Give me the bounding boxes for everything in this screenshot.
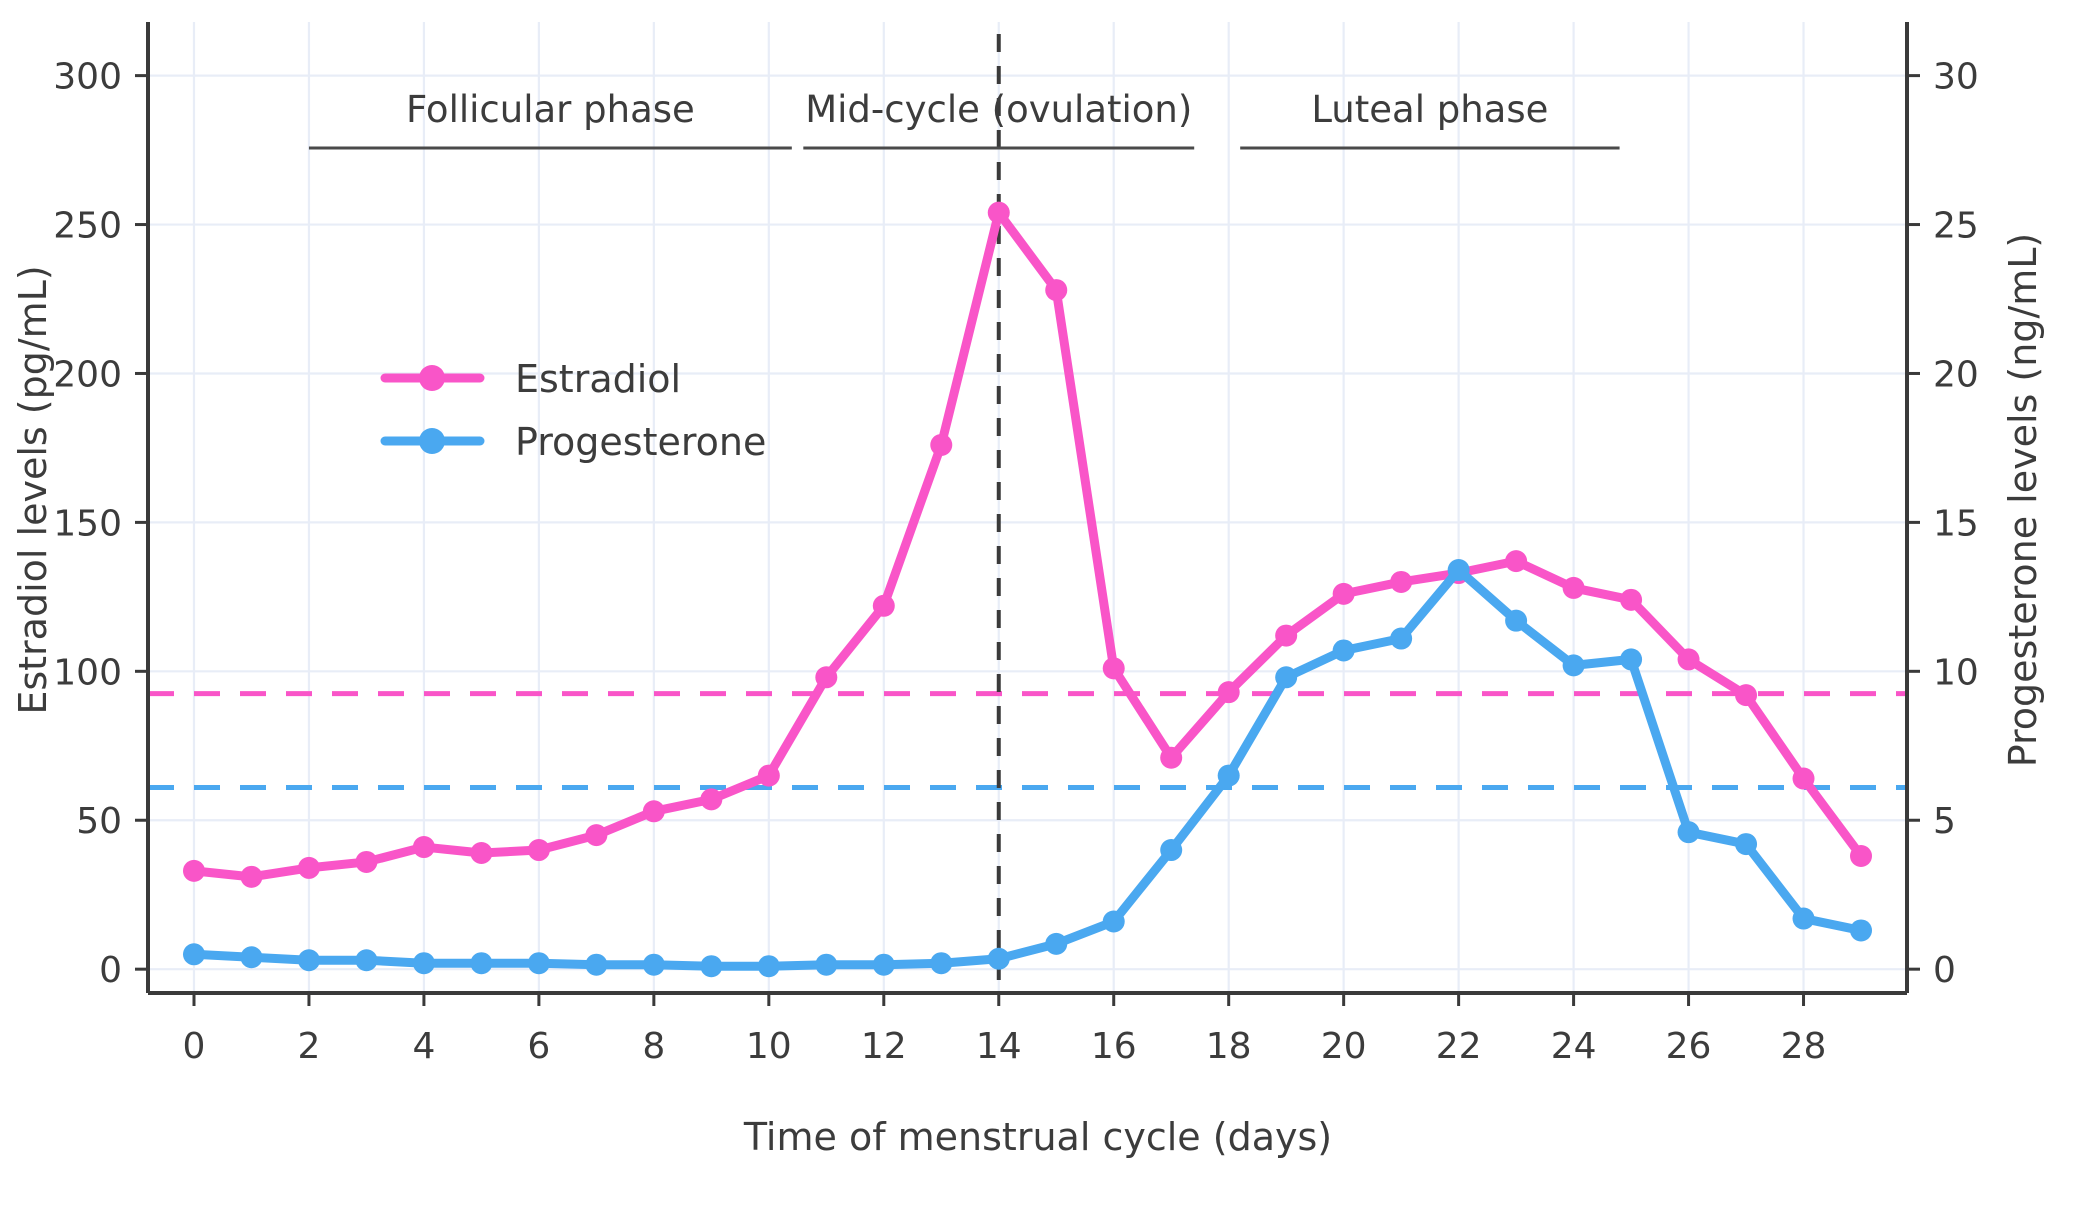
data-point-estradiol xyxy=(1793,768,1815,790)
x-tick-label: 18 xyxy=(1206,1026,1252,1067)
data-point-estradiol xyxy=(930,434,952,456)
data-point-estradiol xyxy=(643,800,665,822)
data-point-progesterone xyxy=(873,954,895,976)
y-left-tick-label: 150 xyxy=(53,503,122,544)
data-point-progesterone xyxy=(1333,639,1355,661)
data-point-estradiol xyxy=(1678,648,1700,670)
data-point-estradiol xyxy=(1103,657,1125,679)
data-point-estradiol xyxy=(758,765,780,787)
chart-figure: Follicular phaseMid-cycle (ovulation)Lut… xyxy=(0,0,2077,1208)
data-point-progesterone xyxy=(183,943,205,965)
x-axis-ticks: 0246810121416182022242628 xyxy=(183,993,1827,1067)
data-point-progesterone xyxy=(1103,911,1125,933)
data-point-estradiol xyxy=(470,842,492,864)
data-point-progesterone xyxy=(643,954,665,976)
y-axis-left-label: Estradiol levels (pg/mL) xyxy=(11,265,55,714)
y-left-tick-label: 0 xyxy=(99,950,122,991)
data-point-progesterone xyxy=(1850,919,1872,941)
x-tick-label: 20 xyxy=(1321,1026,1367,1067)
x-tick-label: 24 xyxy=(1551,1026,1597,1067)
data-point-progesterone xyxy=(413,952,435,974)
y-axis-right-ticks: 051015202530 xyxy=(1907,57,1979,992)
legend-swatch-marker xyxy=(419,365,445,391)
x-tick-label: 16 xyxy=(1091,1026,1137,1067)
data-point-estradiol xyxy=(1275,625,1297,647)
y-gridlines xyxy=(148,76,1907,970)
data-point-estradiol xyxy=(183,860,205,882)
x-axis-label: Time of menstrual cycle (days) xyxy=(743,1115,1332,1159)
data-point-progesterone xyxy=(815,954,837,976)
y-right-tick-label: 15 xyxy=(1933,503,1979,544)
data-point-estradiol xyxy=(1045,279,1067,301)
phase-annotations: Follicular phaseMid-cycle (ovulation)Lut… xyxy=(309,88,1620,148)
data-point-estradiol xyxy=(988,202,1010,224)
legend-swatch-marker xyxy=(419,428,445,454)
y-right-tick-label: 10 xyxy=(1933,652,1979,693)
data-point-estradiol xyxy=(298,857,320,879)
data-point-estradiol xyxy=(355,851,377,873)
data-point-progesterone xyxy=(1390,628,1412,650)
y-right-tick-label: 5 xyxy=(1933,801,1956,842)
data-point-estradiol xyxy=(1620,589,1642,611)
x-tick-label: 8 xyxy=(642,1026,665,1067)
y-left-tick-label: 300 xyxy=(53,57,122,98)
series-line-estradiol xyxy=(194,213,1861,877)
x-tick-label: 28 xyxy=(1781,1026,1827,1067)
data-point-progesterone xyxy=(585,954,607,976)
y-axis-left-ticks: 050100150200250300 xyxy=(53,57,148,992)
data-point-progesterone xyxy=(988,948,1010,970)
data-point-progesterone xyxy=(528,952,550,974)
data-point-progesterone xyxy=(1678,821,1700,843)
data-point-estradiol xyxy=(1735,684,1757,706)
phase-label: Mid-cycle (ovulation) xyxy=(805,88,1192,131)
data-point-estradiol xyxy=(528,839,550,861)
data-point-progesterone xyxy=(1620,648,1642,670)
data-point-estradiol xyxy=(1333,583,1355,605)
data-point-progesterone xyxy=(240,946,262,968)
x-tick-label: 10 xyxy=(746,1026,792,1067)
data-point-estradiol xyxy=(1390,571,1412,593)
data-point-estradiol xyxy=(1563,577,1585,599)
data-point-estradiol xyxy=(1218,681,1240,703)
legend-label-estradiol[interactable]: Estradiol xyxy=(515,357,681,401)
y-right-tick-label: 20 xyxy=(1933,354,1979,395)
x-tick-label: 26 xyxy=(1666,1026,1712,1067)
y-left-tick-label: 200 xyxy=(53,354,122,395)
phase-label: Follicular phase xyxy=(406,88,695,131)
data-point-progesterone xyxy=(1218,765,1240,787)
data-point-progesterone xyxy=(1735,833,1757,855)
y-right-tick-label: 25 xyxy=(1933,206,1979,247)
data-point-progesterone xyxy=(298,949,320,971)
data-point-estradiol xyxy=(1505,550,1527,572)
data-point-progesterone xyxy=(470,952,492,974)
data-point-estradiol xyxy=(873,595,895,617)
x-tick-label: 14 xyxy=(976,1026,1022,1067)
x-tick-label: 6 xyxy=(527,1026,550,1067)
data-point-progesterone xyxy=(930,952,952,974)
phase-label: Luteal phase xyxy=(1311,88,1548,131)
data-point-estradiol xyxy=(700,788,722,810)
data-point-estradiol xyxy=(413,836,435,858)
data-point-estradiol xyxy=(815,666,837,688)
data-point-progesterone xyxy=(1563,654,1585,676)
legend-label-progesterone[interactable]: Progesterone xyxy=(515,420,766,464)
x-tick-label: 2 xyxy=(298,1026,321,1067)
data-point-estradiol xyxy=(585,824,607,846)
data-point-progesterone xyxy=(1505,610,1527,632)
x-tick-label: 22 xyxy=(1436,1026,1482,1067)
x-tick-label: 0 xyxy=(183,1026,206,1067)
hormone-levels-line-chart: Follicular phaseMid-cycle (ovulation)Lut… xyxy=(0,0,2077,1208)
data-point-progesterone xyxy=(1793,908,1815,930)
y-right-tick-label: 30 xyxy=(1933,57,1979,98)
x-tick-label: 4 xyxy=(412,1026,435,1067)
data-point-progesterone xyxy=(1275,666,1297,688)
data-point-progesterone xyxy=(700,955,722,977)
y-left-tick-label: 250 xyxy=(53,206,122,247)
data-point-estradiol xyxy=(240,866,262,888)
series-line-progesterone xyxy=(194,570,1861,966)
data-point-progesterone xyxy=(1448,559,1470,581)
data-point-estradiol xyxy=(1160,747,1182,769)
data-point-progesterone xyxy=(355,949,377,971)
data-point-progesterone xyxy=(1160,839,1182,861)
y-right-tick-label: 0 xyxy=(1933,950,1956,991)
y-axis-right-label: Progesterone levels (ng/mL) xyxy=(2001,233,2045,768)
data-point-progesterone xyxy=(1045,933,1067,955)
data-point-progesterone xyxy=(758,955,780,977)
data-series xyxy=(183,202,1872,978)
x-tick-label: 12 xyxy=(861,1026,907,1067)
y-left-tick-label: 50 xyxy=(76,801,122,842)
y-left-tick-label: 100 xyxy=(53,652,122,693)
data-point-estradiol xyxy=(1850,845,1872,867)
